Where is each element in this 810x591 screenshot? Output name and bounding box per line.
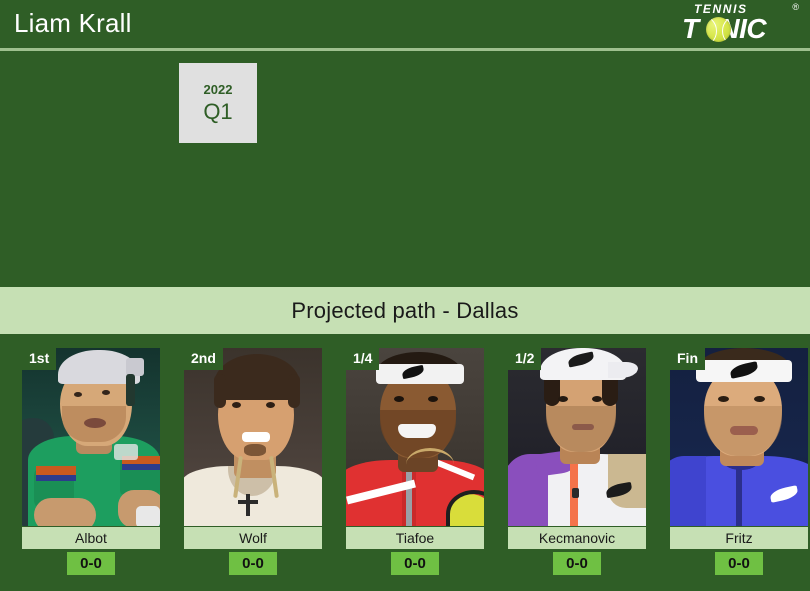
round-badge: 1st (22, 348, 56, 370)
round-badge: 1/4 (346, 348, 379, 370)
player-name-label: Albot (22, 527, 160, 549)
player-photo: 2nd (184, 348, 322, 526)
player-score: 0-0 (715, 552, 763, 575)
projected-path-cards: 1st Albot 0-0 2nd Wolf 0-0 (0, 338, 810, 591)
player-photo: 1st (22, 348, 160, 526)
player-score: 0-0 (67, 552, 115, 575)
page-title: Liam Krall (14, 7, 132, 39)
projected-path-title: Projected path - Dallas (291, 298, 518, 324)
player-card[interactable]: 1/4 Tiafoe 0-0 (344, 342, 486, 591)
tournament-timeline-region: 2022 Q1 (0, 51, 810, 287)
player-score: 0-0 (229, 552, 277, 575)
player-name-label: Fritz (670, 527, 808, 549)
registered-mark-icon: ® (792, 2, 799, 12)
season-round-label: Q1 (203, 99, 232, 125)
player-name-label: Kecmanovic (508, 527, 646, 549)
player-photo: Fin (670, 348, 808, 526)
logo-letter-t: T (682, 13, 698, 44)
player-card[interactable]: Fin Fritz 0-0 (668, 342, 810, 591)
player-name-label: Wolf (184, 527, 322, 549)
player-photo: 1/2 (508, 348, 646, 526)
season-round-box[interactable]: 2022 Q1 (179, 63, 257, 143)
projected-path-banner: Projected path - Dallas (0, 287, 810, 338)
player-score: 0-0 (553, 552, 601, 575)
player-name-label: Tiafoe (346, 527, 484, 549)
round-badge: Fin (670, 348, 705, 370)
tennis-ball-icon (706, 17, 731, 42)
round-badge: 1/2 (508, 348, 541, 370)
player-card[interactable]: 1/2 Kecmanovic 0-0 (506, 342, 648, 591)
player-photo: 1/4 (346, 348, 484, 526)
tennis-tonic-logo[interactable]: TENNIS TONIC ® (680, 2, 802, 46)
page-header: Liam Krall TENNIS TONIC ® (0, 0, 810, 51)
player-card[interactable]: 2nd Wolf 0-0 (182, 342, 324, 591)
round-badge: 2nd (184, 348, 223, 370)
player-card[interactable]: 1st Albot 0-0 (20, 342, 162, 591)
player-score: 0-0 (391, 552, 439, 575)
season-year-label: 2022 (204, 82, 233, 98)
